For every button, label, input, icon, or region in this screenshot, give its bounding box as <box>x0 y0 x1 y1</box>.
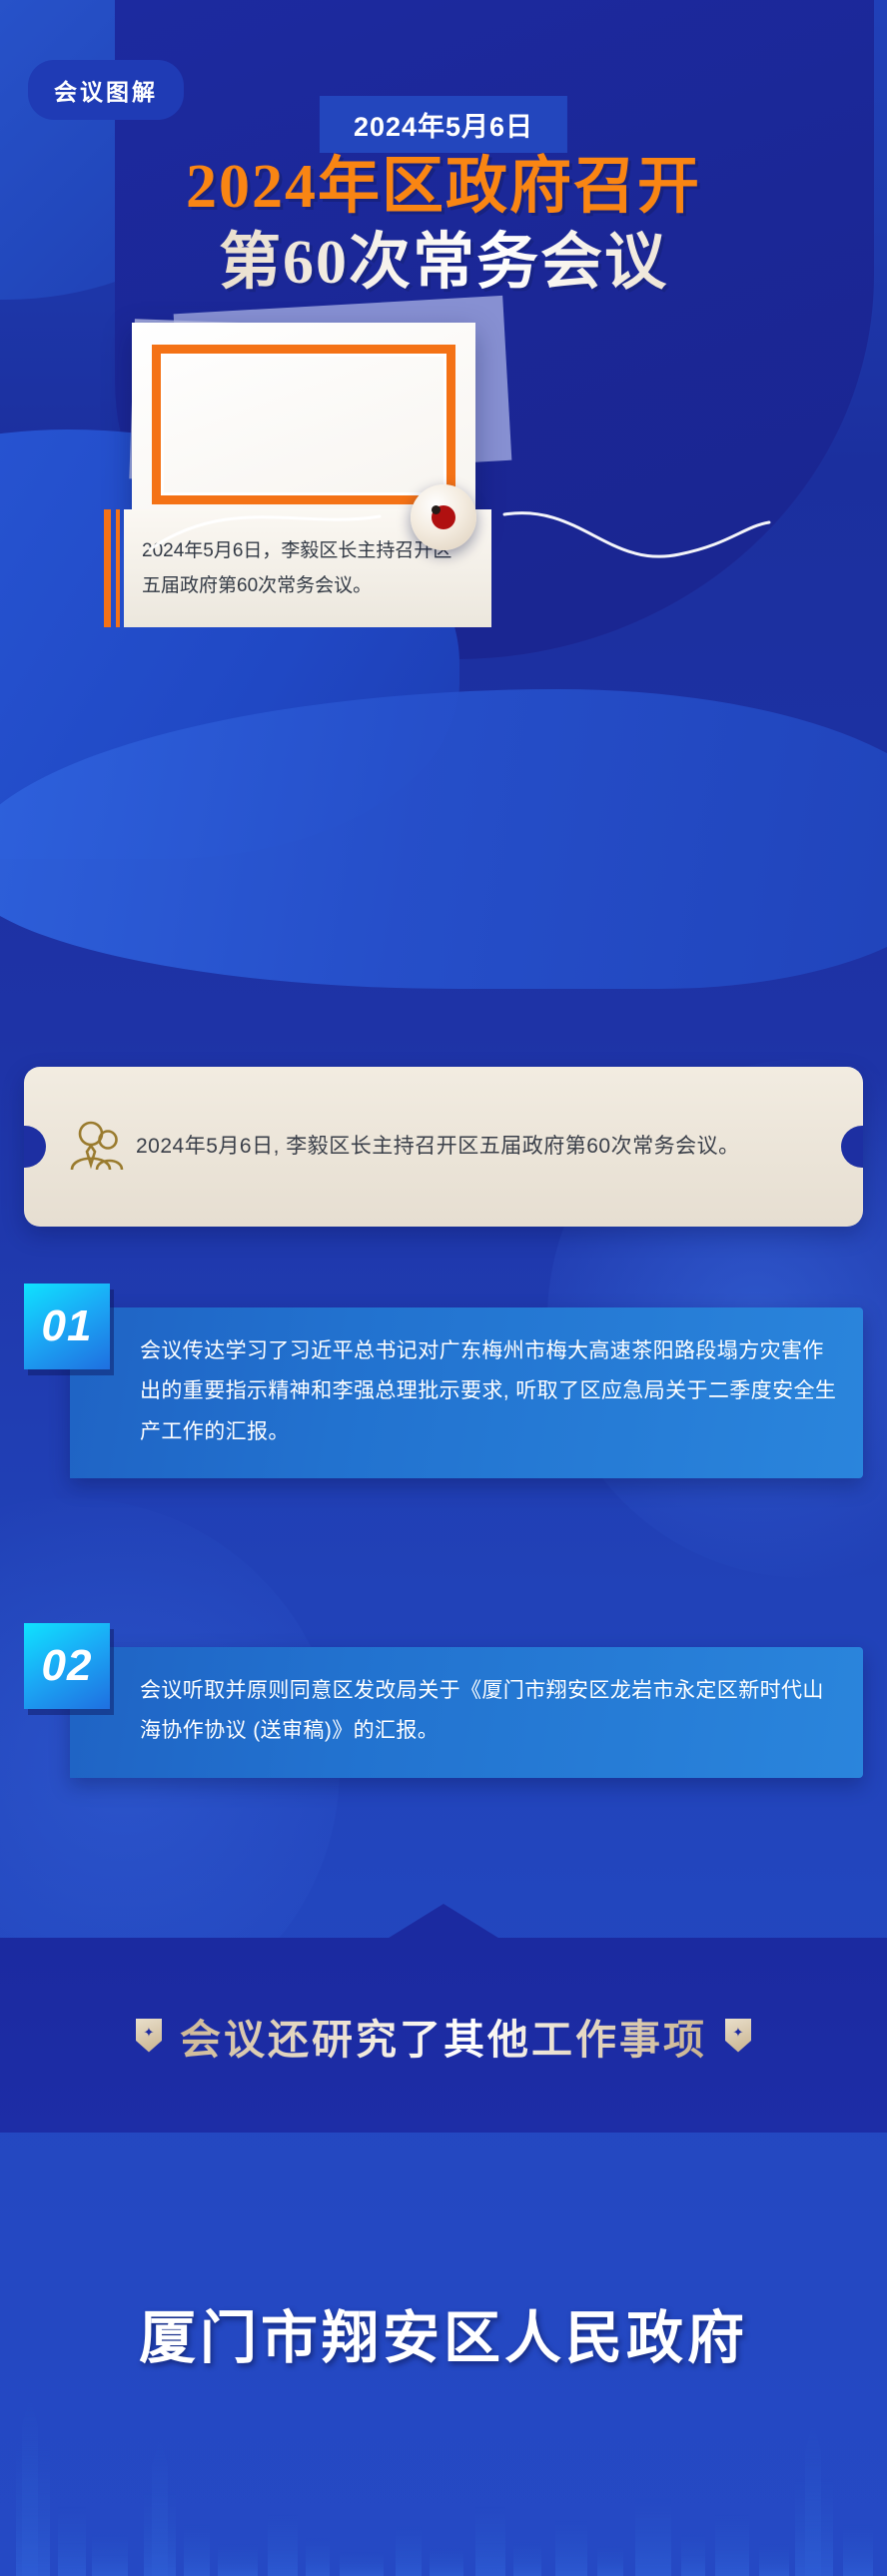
spool-icon <box>411 484 476 550</box>
item-panel: 会议听取并原则同意区发改局关于《厦门市翔安区龙岩市永定区新时代山海协作协议 (送… <box>70 1647 863 1778</box>
summary-card: 2024年5月6日, 李毅区长主持召开区五届政府第60次常务会议。 <box>24 1067 863 1227</box>
shield-star-icon-left: ✦ <box>136 2019 162 2053</box>
item-text: 会议听取并原则同意区发改局关于《厦门市翔安区龙岩市永定区新时代山海协作协议 (送… <box>140 1671 837 1752</box>
date-chip: 2024年5月6日 <box>320 96 567 153</box>
title-line-1: 2024年区政府召开 <box>0 150 887 226</box>
other-matters-band: ✦ 会议还研究了其他工作事项 ✦ <box>0 1938 887 2133</box>
item-number-badge: 01 <box>24 1284 110 1369</box>
other-matters-title: 会议还研究了其他工作事项 <box>180 2006 707 2066</box>
section-badge: 会议图解 <box>28 60 184 120</box>
spool-core <box>432 505 455 529</box>
title-line-2: 第60次常务会议 <box>0 226 887 302</box>
page-title: 2024年区政府召开 第60次常务会议 <box>0 150 887 301</box>
wave-band-shape <box>0 689 887 989</box>
spool-hole <box>432 505 441 514</box>
item-number-badge: 02 <box>24 1623 110 1709</box>
item-panel: 会议传达学习了习近平总书记对广东梅州市梅大高速茶阳路段塌方灾害作出的重要指示精神… <box>70 1307 863 1478</box>
item-text: 会议传达学习了习近平总书记对广东梅州市梅大高速茶阳路段塌方灾害作出的重要指示精神… <box>140 1331 837 1452</box>
shield-star-icon-right: ✦ <box>725 2019 751 2053</box>
people-group-icon <box>58 1118 136 1176</box>
footer-organization: 厦门市翔安区人民政府 <box>0 2292 887 2374</box>
summary-text: 2024年5月6日, 李毅区长主持召开区五届政府第60次常务会议。 <box>136 1127 740 1167</box>
